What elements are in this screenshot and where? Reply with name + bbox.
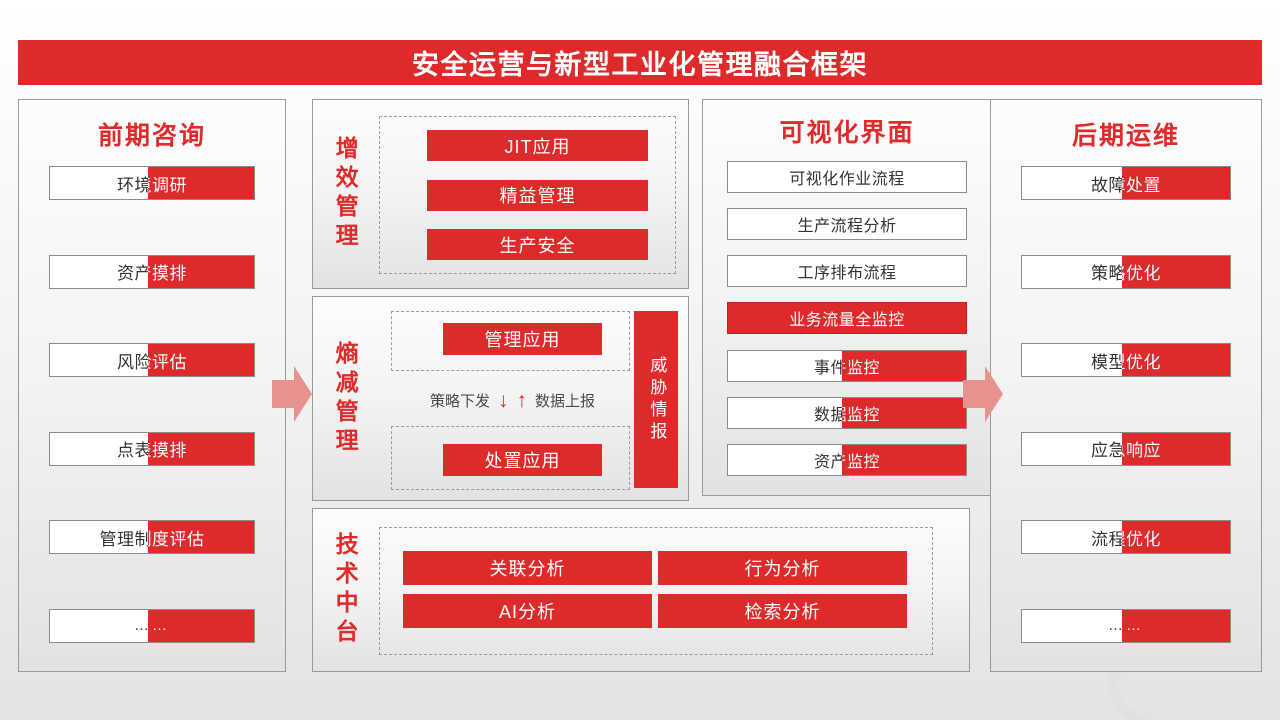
column-heading-right: 后期运维 bbox=[991, 116, 1261, 152]
list-item[interactable]: 应急响应应急响应 bbox=[1021, 432, 1231, 466]
list-item[interactable]: 模型优化模型优化 bbox=[1021, 343, 1231, 377]
list-item[interactable]: 工序排布流程工序排布流程 bbox=[727, 255, 967, 287]
panel-visualization-interface: 可视化界面 可视化作业流程可视化作业流程生产流程分析生产流程分析工序排布流程工序… bbox=[702, 99, 992, 496]
page-title: 安全运营与新型工业化管理融合框架 bbox=[412, 43, 868, 82]
list-item[interactable]: 点表摸排点表摸排 bbox=[49, 432, 255, 466]
list-item[interactable]: 故障处置故障处置 bbox=[1021, 166, 1231, 200]
list-item[interactable]: ………… bbox=[1021, 609, 1231, 643]
visual-item-list: 可视化作业流程可视化作业流程生产流程分析生产流程分析工序排布流程工序排布流程业务… bbox=[703, 149, 991, 492]
list-item-label: 可视化作业流程 bbox=[728, 162, 966, 192]
data-report-label: 数据上报 bbox=[535, 390, 595, 411]
threat-intelligence-bar[interactable]: 威胁情报 bbox=[634, 311, 678, 488]
list-item[interactable]: 环境调研环境调研 bbox=[49, 166, 255, 200]
arrow-up-icon: ↑ bbox=[517, 390, 528, 411]
capability-bar[interactable]: 生产安全 bbox=[427, 229, 648, 260]
list-item[interactable]: 策略优化策略优化 bbox=[1021, 255, 1231, 289]
list-item[interactable]: ………… bbox=[49, 609, 255, 643]
panel-early-consulting: 前期咨询 环境调研环境调研资产摸排资产摸排风险评估风险评估点表摸排点表摸排管理制… bbox=[18, 99, 286, 672]
left-item-list: 环境调研环境调研资产摸排资产摸排风险评估风险评估点表摸排点表摸排管理制度评估管理… bbox=[19, 152, 285, 665]
list-item[interactable]: 管理制度评估管理制度评估 bbox=[49, 520, 255, 554]
capability-bar[interactable]: 精益管理 bbox=[427, 180, 648, 211]
list-item[interactable]: 资产摸排资产摸排 bbox=[49, 255, 255, 289]
column-heading-left: 前期咨询 bbox=[19, 116, 285, 152]
list-item-label: 工序排布流程 bbox=[728, 256, 966, 286]
list-item[interactable]: 数据监控数据监控 bbox=[727, 397, 967, 429]
capability-bar[interactable]: 行为分析 bbox=[658, 551, 907, 585]
list-item[interactable]: 事件监控事件监控 bbox=[727, 350, 967, 382]
capability-bar[interactable]: 检索分析 bbox=[658, 594, 907, 628]
right-item-list: 故障处置故障处置策略优化策略优化模型优化模型优化应急响应应急响应流程优化流程优化… bbox=[991, 152, 1261, 665]
platform-label: 技术中台 bbox=[323, 509, 367, 671]
management-application-bar[interactable]: 管理应用 bbox=[443, 323, 602, 355]
policy-dispatch-label: 策略下发 bbox=[430, 390, 490, 411]
capability-bar[interactable]: JIT应用 bbox=[427, 130, 648, 161]
list-item[interactable]: 生产流程分析生产流程分析 bbox=[727, 208, 967, 240]
list-item-label: 生产流程分析 bbox=[728, 209, 966, 239]
list-item[interactable]: 流程优化流程优化 bbox=[1021, 520, 1231, 554]
efficiency-label: 增效管理 bbox=[323, 100, 367, 288]
page-title-bar: 安全运营与新型工业化管理融合框架 bbox=[18, 40, 1262, 85]
list-item[interactable]: 业务流量全监控业务流量全监控 bbox=[727, 302, 967, 334]
entropy-flow-row: 策略下发 ↓ ↑ 数据上报 bbox=[397, 383, 628, 417]
list-item[interactable]: 风险评估风险评估 bbox=[49, 343, 255, 377]
stage-arrow-1 bbox=[272, 366, 312, 422]
list-item[interactable]: 可视化作业流程可视化作业流程 bbox=[727, 161, 967, 193]
disposal-application-bar[interactable]: 处置应用 bbox=[443, 444, 602, 476]
panel-technology-platform: 技术中台 关联分析行为分析AI分析检索分析 bbox=[312, 508, 970, 672]
stage-arrow-2 bbox=[963, 366, 1003, 422]
arrow-down-icon: ↓ bbox=[498, 390, 509, 411]
list-item-label: 业务流量全监控 bbox=[728, 303, 966, 333]
efficiency-bar-list: JIT应用精益管理生产安全 bbox=[427, 130, 648, 260]
platform-bar-grid: 关联分析行为分析AI分析检索分析 bbox=[403, 551, 907, 629]
column-heading-visual: 可视化界面 bbox=[703, 113, 991, 149]
panel-late-operations: 后期运维 故障处置故障处置策略优化策略优化模型优化模型优化应急响应应急响应流程优… bbox=[990, 99, 1262, 672]
panel-efficiency-management: 增效管理 JIT应用精益管理生产安全 bbox=[312, 99, 689, 289]
capability-bar[interactable]: 关联分析 bbox=[403, 551, 652, 585]
list-item[interactable]: 资产监控资产监控 bbox=[727, 444, 967, 476]
entropy-label: 熵减管理 bbox=[323, 297, 367, 500]
capability-bar[interactable]: AI分析 bbox=[403, 594, 652, 628]
panel-entropy-reduction: 熵减管理 管理应用 策略下发 ↓ ↑ 数据上报 处置应用 威胁情报 bbox=[312, 296, 689, 501]
